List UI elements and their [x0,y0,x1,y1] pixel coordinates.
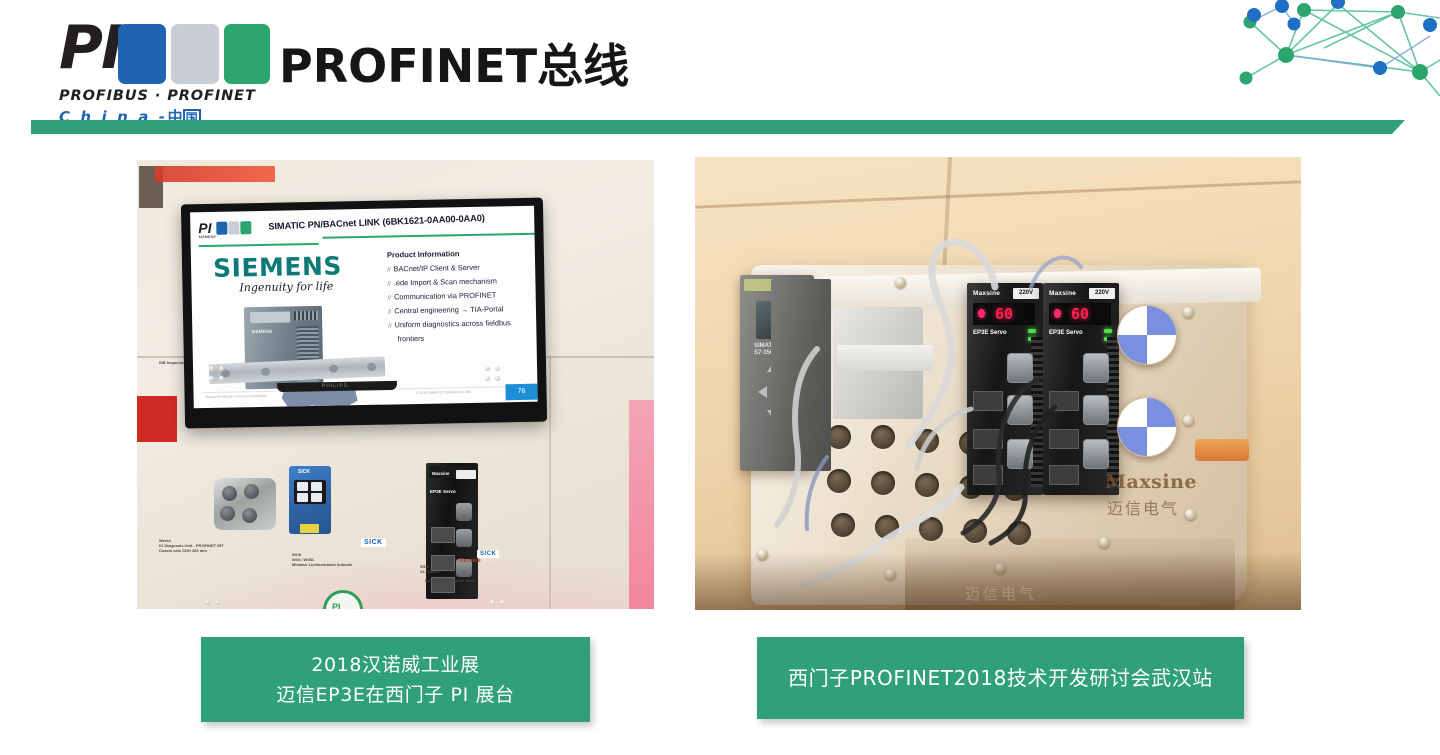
din-rail-hole [367,363,376,371]
din-rail-hole [329,364,338,372]
slide-plc-brand: SIEMENS [251,329,272,334]
slide-bullet-0: //BACnet/IP Client & Server [387,263,480,274]
slide-section-heading: Product Information [387,249,460,259]
disc-2-quadrant-white [1118,398,1147,427]
inspection-camera-sensor [214,478,276,530]
slide-bullet-3: //Central engineering → TIA-Portal [388,304,504,315]
photo-hannover-messe-booth: PI SIEMENS SIMATIC PN/BACnet LINK (6BK16… [137,160,654,609]
slide-pi-bar-grey [228,221,239,234]
plate-brand-maxsine-cn: 迈信电气 [1107,495,1179,519]
page-title: PROFINET总线 [279,38,629,94]
slide-pi-bar-blue [216,222,227,235]
disc-2-quadrant-blue [1147,398,1176,427]
booth-green-badge-glyph: PI [332,602,341,609]
panel-label-2: SICK W16 / W4SL Miniatur Lichtschranke I… [292,552,352,567]
slide-rule-right [323,233,537,239]
wall-red-signage-strip [155,166,275,182]
sick-sensor-connector [300,524,319,533]
slide-siemens-wordmark: SIEMENS [213,251,342,282]
caption-right: 西门子PROFINET2018技术开发研讨会武汉站 [757,637,1244,719]
plate-reflection-text: 迈信电气 [965,583,1037,604]
cable-blue-top [1031,257,1081,287]
slide-pi-subtitle: SIEMENS [198,235,215,239]
sensor-lens [244,484,259,499]
plate-orange-fixture [1195,439,1249,461]
slide-bullet-2-text: Communication via PROFINET [394,290,496,301]
panel-screw [219,366,224,371]
maxsine-drive-caption: Maxsine EP3E Servo Drive [425,578,475,583]
panel-screw [209,376,214,381]
panel-label-1: Werke IO Diagnosis Unit - PROFINET IRT C… [159,538,224,553]
plate-brand-maxsine: Maxsine [1105,471,1197,493]
panel-screw [495,376,500,381]
caption-left-line-1: 2018汉诺威工业展 [311,650,479,680]
disc-1-quadrant-blue [1147,306,1176,335]
slide-page-number-text: 76 [505,384,537,401]
slide-bullet-4: //Uniform diagnostics across fieldbus [388,318,511,329]
panel-screw [219,376,224,381]
sick-vision-sensor: SICK [289,466,331,534]
panel-screw [485,366,490,371]
sensor-lens [220,506,235,521]
sick-sensor-face [294,480,326,504]
servo-drive-badge [456,470,476,479]
slide-din-rail [209,356,386,384]
slide-siemens-tagline: Ingenuity for life [239,280,333,295]
servo-drive-terminal [431,527,455,543]
panel-screw [500,600,505,605]
servo-drive-dsub-port [456,529,472,547]
disc-2-quadrant-white [1147,427,1176,456]
rotation-indicator-disc-1 [1117,305,1177,365]
panel-screw [495,366,500,371]
slide-rule-left [199,243,319,247]
caption-left-line-2: 迈信EP3E在西门子 PI 展台 [276,680,514,710]
maxsine-logo-plate: Maxsine [459,558,481,564]
slide-pi-bar-green [240,221,251,234]
slide-bullet-4-wrap: frontiers [397,334,424,344]
servo-drive-model: EP3E Servo [430,489,456,494]
cable-blue-left [807,457,827,529]
page-header: PI PROFIBUS · PROFINET C h i n a -中国 PRO… [0,0,1440,128]
slide-bullet-2: //Communication via PROFINET [388,290,497,301]
wall-monitor: PI SIEMENS SIMATIC PN/BACnet LINK (6BK16… [181,198,547,429]
panel-screw [205,600,210,605]
network-graphic [1208,0,1440,108]
slide-bullet-4-text: Uniform diagnostics across fieldbus [394,318,510,329]
panel-label-3: SICK VL70Mx22 [420,564,440,574]
disc-1-quadrant-white [1147,335,1176,364]
sick-sensor-lens [297,482,308,491]
servo-drive-dsub-port [456,503,472,521]
slide-bullet-0-text: BACnet/IP Client & Server [393,263,479,274]
panel-label-top: ISB Inspector [159,360,185,365]
panel-screw [215,600,220,605]
monitor-brand-label: PHILIPS [305,382,365,390]
slide-bullet-3-text: Central engineering → TIA-Portal [394,304,503,315]
sick-sensor-lens [311,493,322,502]
photo-siemens-wuhan-seminar: SIMATIC S7-1500 Maxsine 220V 60 EP3E Ser… [695,157,1301,610]
header-divider-bar [31,120,1405,134]
din-rail-hole [261,368,270,376]
sick-sensor-lens [297,493,308,502]
slide-page-number: 76 [505,384,537,401]
slide-pi-logo: PI SIEMENS [198,219,250,242]
pi-logo-bar-grey [171,24,219,84]
slide-title: SIMATIC PN/BACnet LINK (6BK1621-0AA00-0A… [268,211,536,232]
pi-logo-letters: PI [59,18,121,78]
panel-screw [209,366,214,371]
sick-logo-plate-2: SICK [477,550,499,558]
panel-screw [485,376,490,381]
caption-left: 2018汉诺威工业展 迈信EP3E在西门子 PI 展台 [201,637,590,722]
cable-grey-left [777,349,817,525]
caption-right-line-1: 西门子PROFINET2018技术开发研讨会武汉站 [788,663,1213,693]
pi-china-logo: PI PROFIBUS · PROFINET C h i n a -中国 [57,16,247,114]
slide-plc-connector [294,311,318,320]
servo-drive-brand: Maxsine [432,471,449,476]
sensor-lens [242,508,257,523]
slide-bullet-1: //.ede Import & Scan mechanism [387,276,497,287]
sensor-lens [222,486,237,501]
slide-plc-top-label [250,311,290,323]
sick-sensor-lens [311,482,322,491]
pi-logo-bar-blue [118,24,166,84]
rotation-indicator-disc-2 [1117,397,1177,457]
panel-screw [490,600,495,605]
disc-2-quadrant-blue [1118,427,1147,456]
network-graphic-svg [1208,0,1440,108]
disc-1-quadrant-white [1118,306,1147,335]
pi-logo-subtitle-profibus-profinet: PROFIBUS · PROFINET [59,88,265,104]
servo-drive-top: Maxsine [429,466,475,478]
disc-1-quadrant-blue [1118,335,1147,364]
wall-red-module [137,396,177,442]
sick-logo-plate-1: SICK [361,538,386,547]
pi-logo-bar-green [224,24,270,84]
slide-pi-logo-letters: PI [198,220,212,236]
sick-sensor-brand: SICK [298,469,310,475]
slide-bullet-1-text: .ede Import & Scan mechanism [394,276,497,287]
